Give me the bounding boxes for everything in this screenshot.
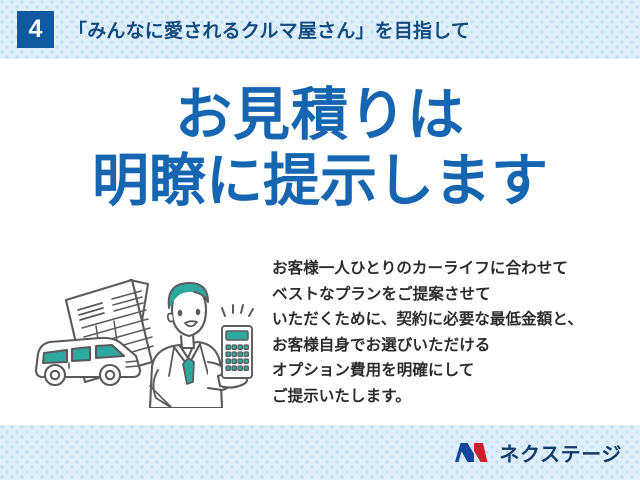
body-copy-line: お客様一人ひとりのカーライフに合わせて xyxy=(272,256,632,282)
van xyxy=(36,338,140,385)
sparkle-icon xyxy=(222,305,253,316)
brand-logo: ネクステージ xyxy=(454,438,622,467)
illustration-svg xyxy=(22,258,272,408)
headline: お見積りは 明瞭に提示します xyxy=(0,82,640,214)
salesman-eye-right xyxy=(196,309,201,315)
calculator xyxy=(222,326,252,378)
body-copy: お客様一人ひとりのカーライフに合わせて ベストなプランをご提案させて いただくた… xyxy=(272,256,632,409)
body-copy-line: いただくために、契約に必要な最低金額と、 xyxy=(272,307,632,333)
calculator-display xyxy=(226,331,248,340)
promo-banner: 4 「みんなに愛されるクルマ屋さん」を目指して お見積りは 明瞭に提示します お… xyxy=(0,0,640,480)
headline-line-2: 明瞭に提示します xyxy=(0,148,640,214)
footer: ネクステージ xyxy=(0,425,640,480)
body-copy-line: オプション費用を明確にして xyxy=(272,358,632,384)
salesman-eye-left xyxy=(178,310,183,316)
headline-line-1: お見積りは xyxy=(0,82,640,148)
header: 4 「みんなに愛されるクルマ屋さん」を目指して xyxy=(0,0,640,59)
body-copy-line: ご提示いたします。 xyxy=(272,384,632,410)
brand-name: ネクステージ xyxy=(499,438,622,467)
body-copy-line: ベストなプランをご提案させて xyxy=(272,282,632,308)
salesman-quotation-van-illustration xyxy=(22,258,272,408)
header-title: 「みんなに愛されるクルマ屋さん」を目指して xyxy=(68,16,470,43)
section-number-badge: 4 xyxy=(17,11,54,48)
body-copy-line: お客様自身でお選びいただける xyxy=(272,333,632,359)
nextage-n-logo-icon xyxy=(454,440,490,465)
